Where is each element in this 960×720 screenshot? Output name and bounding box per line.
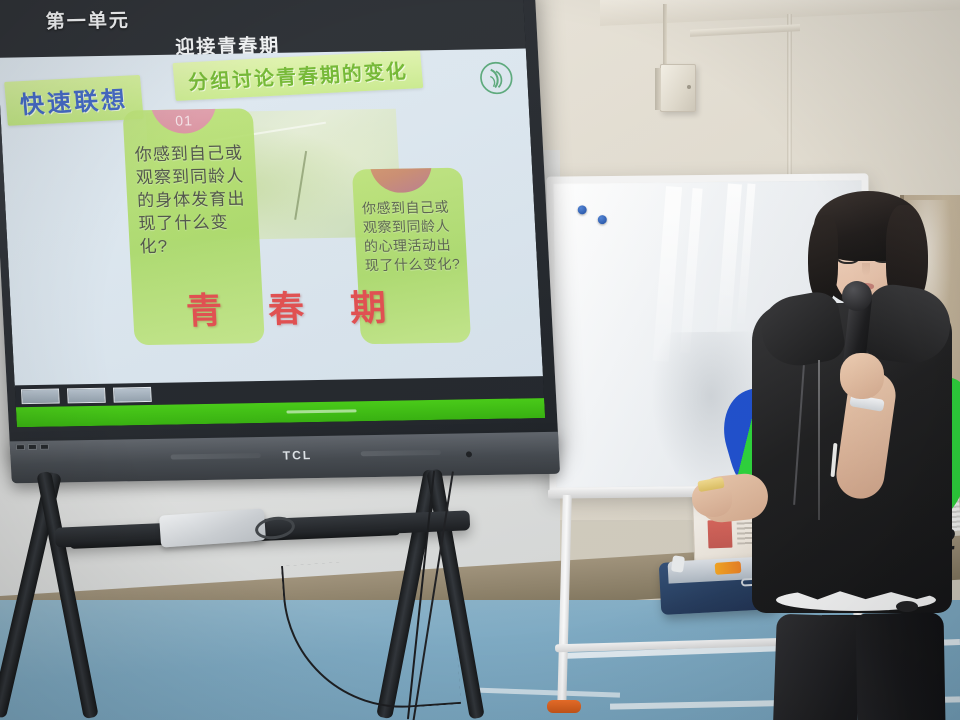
box-knob-icon [687,85,691,89]
slide-body: 分组讨论青春期的变化 快速联想 01 你感到自己或观察到同龄人的身体发育出现了什… [0,49,543,388]
status-bar-glint [286,409,356,413]
speaker-grill [361,450,441,456]
question-text: 你感到自己或观察到同龄人的身体发育出现了什么变化? [134,142,252,258]
question-text: 你感到自己或观察到同龄人的心理活动出现了什么变化? [361,198,463,275]
classroom-scene: 第一单元 迎接青春期 分组讨论青春期的变化 快速联想 [0,0,960,720]
conduit-drop-icon [663,4,667,64]
slide-headline: 青 春 期 [185,279,408,335]
teacher-figure: 2 [690,175,960,720]
slide-thumbnail[interactable] [113,387,152,403]
usb-port-icon[interactable] [28,444,37,450]
magnet-icon[interactable] [598,215,607,224]
magnet-icon[interactable] [578,205,587,214]
display-bezel: 第一单元 迎接青春期 分组讨论青春期的变化 快速联想 [0,0,559,459]
school-logo-icon [478,61,514,96]
display-brand-label: TCL [282,448,312,462]
trouser-leg [767,614,861,720]
display-port-panel[interactable] [13,437,60,458]
whiteboard-foot [547,700,581,713]
display-screen[interactable]: 第一单元 迎接青春期 分组讨论青春期的变化 快速联想 [0,0,545,427]
slide-thumbnail[interactable] [67,388,106,404]
card-number-badge: 01 [149,108,217,134]
hdmi-port-icon[interactable] [40,444,49,450]
plant-stem-icon [294,151,307,220]
slide-topic-banner: 分组讨论青春期的变化 [172,50,423,101]
trouser-leg [856,612,949,720]
suitcase-tool-icon [671,555,685,573]
slide-thumbnail[interactable] [21,389,60,405]
vest-zipper [818,360,820,520]
slide-activity-banner: 快速联想 [4,75,144,126]
card-photo-badge [369,168,433,194]
speaker-grill [171,453,261,460]
nose [862,263,870,276]
display-lower-bezel: TCL [10,432,560,484]
hair-side [808,215,838,303]
hem-opening [896,601,918,612]
interactive-display-unit[interactable]: 第一单元 迎接青春期 分组讨论青春期的变化 快速联想 [0,0,562,489]
electrical-box [660,64,696,112]
right-hand [840,353,884,399]
usb-port-icon[interactable] [16,444,25,450]
slide-unit-label: 第一单元 [45,5,130,33]
ir-sensor-icon [466,451,472,457]
